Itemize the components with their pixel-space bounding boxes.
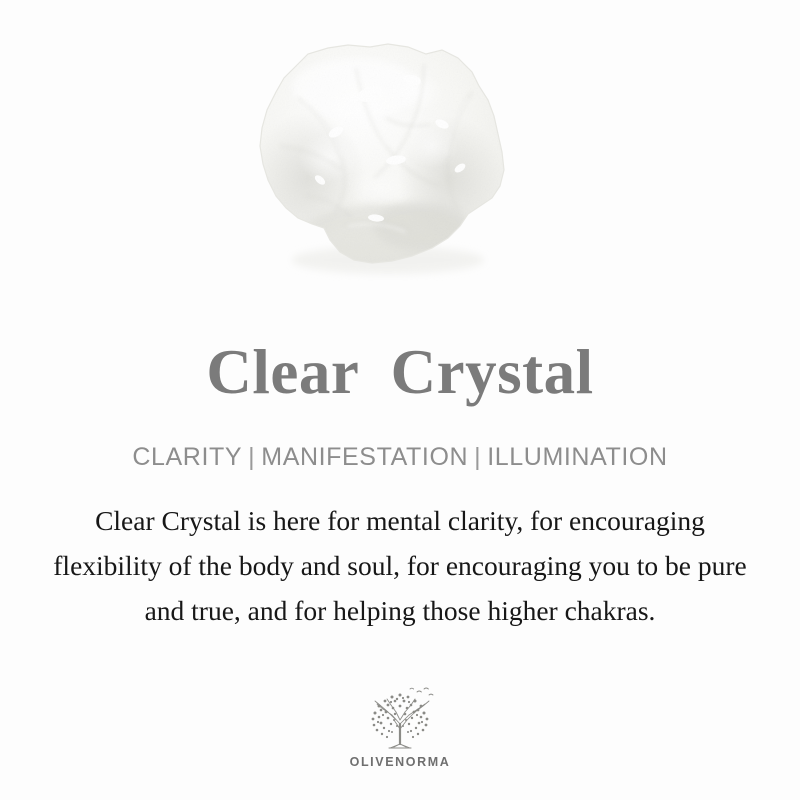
- keyword-separator-2: |: [468, 443, 487, 471]
- keyword-manifestation: MANIFESTATION: [261, 443, 468, 471]
- keyword-illumination: ILLUMINATION: [487, 443, 667, 471]
- keyword-clarity: CLARITY: [132, 443, 242, 471]
- keyword-separator-1: |: [242, 443, 261, 471]
- brand-logo: OLIVENORMA: [0, 684, 800, 769]
- product-title: Clear Crystal: [0, 336, 800, 408]
- hero-image-area: [0, 0, 800, 320]
- product-info-card: Clear Crystal CLARITY|MANIFESTATION|ILLU…: [0, 0, 800, 800]
- olive-tree-icon: [361, 684, 439, 752]
- clear-quartz-raw-stone-image: [236, 28, 536, 296]
- product-description: Clear Crystal is here for mental clarity…: [44, 498, 756, 633]
- keyword-list: CLARITY|MANIFESTATION|ILLUMINATION: [0, 440, 800, 474]
- brand-name: OLIVENORMA: [0, 755, 800, 769]
